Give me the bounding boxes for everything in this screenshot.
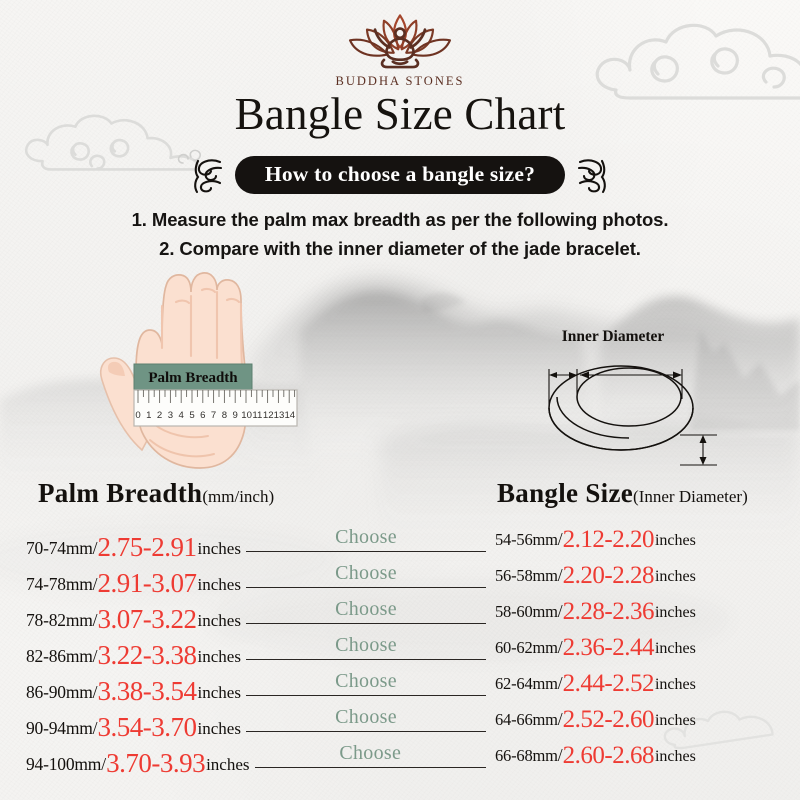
brand-logo: BUDDHA STONES xyxy=(0,10,800,89)
svg-text:2: 2 xyxy=(157,410,162,421)
unit-label: inches xyxy=(198,683,241,703)
choose-size-field[interactable]: Choose xyxy=(246,596,486,626)
choose-label[interactable]: Choose xyxy=(335,706,397,729)
table-row: 74-78mm/2.91-3.07inchesChoose xyxy=(26,560,486,596)
choose-label[interactable]: Choose xyxy=(335,598,397,621)
svg-text:9: 9 xyxy=(233,410,238,421)
bangle-size-heading-main: Bangle Size xyxy=(497,478,633,508)
svg-text:5: 5 xyxy=(189,410,194,421)
unit-label: inches xyxy=(198,575,241,595)
mm-range: 66-68mm xyxy=(495,746,558,766)
instruction-step-2: 2. Compare with the inner diameter of th… xyxy=(0,235,800,264)
table-row: 56-58mm/2.20-2.28inches xyxy=(495,560,795,596)
choose-label[interactable]: Choose xyxy=(335,526,397,549)
choose-underline xyxy=(246,587,486,588)
mm-range: 54-56mm xyxy=(495,530,558,550)
svg-text:0: 0 xyxy=(135,410,140,421)
svg-text:10: 10 xyxy=(241,410,252,421)
table-row: 90-94mm/3.54-3.70inchesChoose xyxy=(26,704,486,740)
mm-range: 58-60mm xyxy=(495,602,558,622)
mm-range: 82-86mm xyxy=(26,646,93,667)
svg-text:14: 14 xyxy=(284,410,295,421)
table-row: 62-64mm/2.44-2.52inches xyxy=(495,668,795,704)
bangle-size-chart-page: BUDDHA STONES Bangle Size Chart How to c… xyxy=(0,0,800,800)
choose-underline xyxy=(255,767,486,768)
svg-text:8: 8 xyxy=(222,410,227,421)
swirl-ornament-right-icon xyxy=(574,155,610,195)
mm-range: 70-74mm xyxy=(26,538,93,559)
inner-diameter-caption: Inner Diameter xyxy=(562,328,665,345)
bangle-size-heading: Bangle Size(Inner Diameter) xyxy=(497,478,748,509)
mm-range: 62-64mm xyxy=(495,674,558,694)
hand-palm-breadth-illustration: Palm Breadth 012 xyxy=(96,272,326,472)
table-row: 58-60mm/2.28-2.36inches xyxy=(495,596,795,632)
mm-range: 56-58mm xyxy=(495,566,558,586)
inch-range: 2.60-2.68 xyxy=(563,742,654,770)
how-to-choose-banner: How to choose a bangle size? xyxy=(0,155,800,195)
svg-text:13: 13 xyxy=(274,410,285,421)
unit-label: inches xyxy=(655,532,696,550)
choose-size-field[interactable]: Choose xyxy=(246,560,486,590)
svg-text:11: 11 xyxy=(252,410,262,421)
palm-breadth-table: 70-74mm/2.75-2.91inchesChoose74-78mm/2.9… xyxy=(26,524,486,776)
instruction-steps: 1. Measure the palm max breadth as per t… xyxy=(0,206,800,263)
palm-breadth-band-label: Palm Breadth xyxy=(148,370,238,386)
mm-range: 64-66mm xyxy=(495,710,558,730)
inch-range: 2.20-2.28 xyxy=(563,562,654,590)
table-row: 66-68mm/2.60-2.68inches xyxy=(495,740,795,776)
unit-label: inches xyxy=(655,748,696,766)
inch-range: 3.70-3.93 xyxy=(106,748,205,779)
unit-label: inches xyxy=(198,611,241,631)
mm-range: 78-82mm xyxy=(26,610,93,631)
unit-label: inches xyxy=(198,719,241,739)
swirl-ornament-left-icon xyxy=(190,155,226,195)
choose-label[interactable]: Choose xyxy=(335,670,397,693)
inch-range: 2.28-2.36 xyxy=(563,598,654,626)
how-to-choose-pill-label: How to choose a bangle size? xyxy=(235,156,565,195)
choose-underline xyxy=(246,695,486,696)
table-row: 86-90mm/3.38-3.54inchesChoose xyxy=(26,668,486,704)
unit-label: inches xyxy=(655,712,696,730)
unit-label: inches xyxy=(655,640,696,658)
unit-label: inches xyxy=(198,647,241,667)
bangle-inner-diameter-illustration: Inner Diameter xyxy=(505,325,755,475)
table-row: 94-100mm/3.70-3.93inchesChoose xyxy=(26,740,486,776)
unit-label: inches xyxy=(655,568,696,586)
table-row: 60-62mm/2.36-2.44inches xyxy=(495,632,795,668)
inch-range: 2.36-2.44 xyxy=(563,634,654,662)
palm-breadth-heading-main: Palm Breadth xyxy=(38,478,202,508)
page-title: Bangle Size Chart xyxy=(0,88,800,140)
table-row: 82-86mm/3.22-3.38inchesChoose xyxy=(26,632,486,668)
inch-range: 2.12-2.20 xyxy=(563,526,654,554)
mm-range: 94-100mm xyxy=(26,754,101,775)
mm-range: 60-62mm xyxy=(495,638,558,658)
mm-range: 86-90mm xyxy=(26,682,93,703)
choose-label[interactable]: Choose xyxy=(339,742,401,765)
table-row: 70-74mm/2.75-2.91inchesChoose xyxy=(26,524,486,560)
table-row: 78-82mm/3.07-3.22inchesChoose xyxy=(26,596,486,632)
inch-range: 2.44-2.52 xyxy=(563,670,654,698)
svg-text:3: 3 xyxy=(168,410,173,421)
instruction-step-1: 1. Measure the palm max breadth as per t… xyxy=(0,206,800,235)
choose-underline xyxy=(246,731,486,732)
table-row: 54-56mm/2.12-2.20inches xyxy=(495,524,795,560)
inch-range: 3.38-3.54 xyxy=(98,676,197,707)
choose-size-field[interactable]: Choose xyxy=(246,668,486,698)
mm-range: 90-94mm xyxy=(26,718,93,739)
bangle-size-table: 54-56mm/2.12-2.20inches56-58mm/2.20-2.28… xyxy=(495,524,795,776)
svg-text:1: 1 xyxy=(146,410,151,421)
unit-label: inches xyxy=(655,604,696,622)
svg-text:6: 6 xyxy=(200,410,205,421)
choose-underline xyxy=(246,623,486,624)
unit-label: inches xyxy=(198,539,241,559)
inch-range: 3.22-3.38 xyxy=(98,640,197,671)
table-row: 64-66mm/2.52-2.60inches xyxy=(495,704,795,740)
palm-breadth-heading: Palm Breadth(mm/inch) xyxy=(38,478,274,509)
choose-label[interactable]: Choose xyxy=(335,562,397,585)
brand-name: BUDDHA STONES xyxy=(336,74,465,89)
inch-range: 2.52-2.60 xyxy=(563,706,654,734)
choose-size-field[interactable]: Choose xyxy=(246,524,486,554)
inch-range: 2.75-2.91 xyxy=(98,532,197,563)
inch-range: 3.54-3.70 xyxy=(98,712,197,743)
choose-label[interactable]: Choose xyxy=(335,634,397,657)
choose-underline xyxy=(246,659,486,660)
svg-text:7: 7 xyxy=(211,410,216,421)
choose-underline xyxy=(246,551,486,552)
svg-text:12: 12 xyxy=(263,410,274,421)
unit-label: inches xyxy=(655,676,696,694)
choose-size-field[interactable]: Choose xyxy=(255,740,486,770)
choose-size-field[interactable]: Choose xyxy=(246,632,486,662)
bangle-size-heading-sub: (Inner Diameter) xyxy=(633,487,748,506)
palm-breadth-heading-sub: (mm/inch) xyxy=(202,487,274,506)
inch-range: 3.07-3.22 xyxy=(98,604,197,635)
svg-text:4: 4 xyxy=(179,410,185,421)
lotus-meditation-icon xyxy=(337,10,463,76)
inch-range: 2.91-3.07 xyxy=(98,568,197,599)
unit-label: inches xyxy=(206,755,249,775)
ruler-tick-labels: 012 345 678 91011 121314 xyxy=(135,410,295,421)
choose-size-field[interactable]: Choose xyxy=(246,704,486,734)
mm-range: 74-78mm xyxy=(26,574,93,595)
